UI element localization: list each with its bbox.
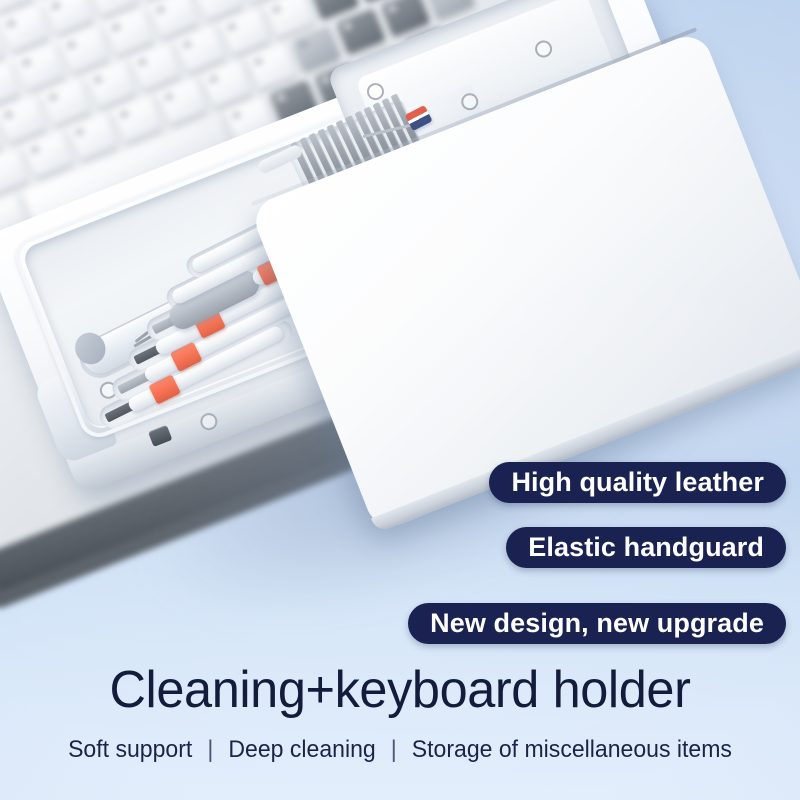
feature-badge-high-quality-leather: High quality leather	[489, 462, 786, 503]
feature-soft-support: Soft support	[68, 736, 192, 763]
feature-badge-new-design: New design, new upgrade	[408, 603, 786, 644]
feature-separator: |	[391, 736, 397, 763]
feature-storage: Storage of miscellaneous items	[412, 736, 732, 763]
product-promo-scene: High quality leather Elastic handguard N…	[0, 0, 800, 800]
feature-separator: |	[207, 736, 213, 763]
product-headline: Cleaning+keyboard holder	[12, 660, 788, 720]
feature-badge-elastic-handguard: Elastic handguard	[506, 527, 786, 568]
feature-subline: Soft support | Deep cleaning | Storage o…	[16, 736, 784, 764]
feature-deep-cleaning: Deep cleaning	[228, 736, 375, 763]
